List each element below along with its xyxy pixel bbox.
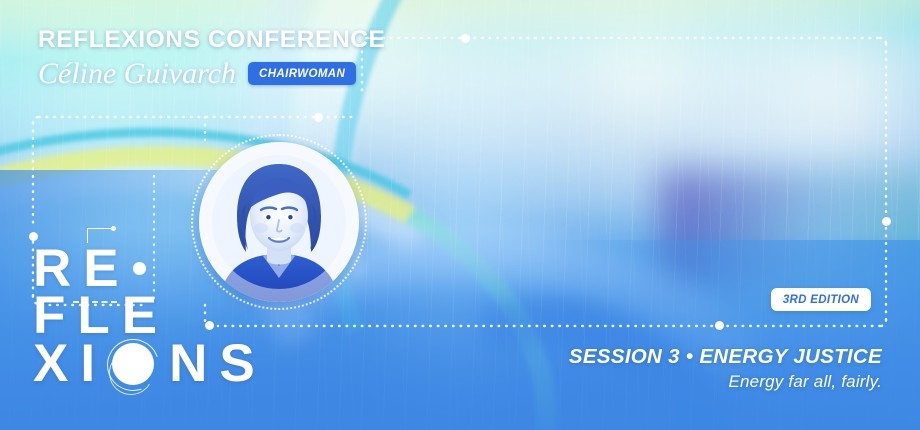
speaker-name: Céline Guivarch [38, 58, 236, 90]
frame-node-header-bottom [314, 113, 323, 122]
logo-orbit-circle-icon [107, 339, 159, 391]
frame-node-top [461, 34, 470, 43]
orbit-disc [112, 343, 154, 385]
frame-node-baseline-center [715, 321, 724, 330]
conference-title: REFLEXIONS CONFERENCE [38, 28, 385, 53]
speaker-row: Céline Guivarch CHAIRWOMAN [38, 58, 385, 90]
reflexions-logo: R E FLE XI NS [33, 245, 267, 391]
session-title: SESSION 3 • ENERGY JUSTICE [569, 346, 882, 368]
conference-banner: REFLEXIONS CONFERENCE Céline Guivarch CH… [0, 0, 920, 430]
session-block: SESSION 3 • ENERGY JUSTICE Energy far al… [569, 346, 882, 392]
logo-letter-e-decorated: E [83, 245, 130, 294]
header-block: REFLEXIONS CONFERENCE Céline Guivarch CH… [38, 28, 385, 89]
edition-badge: 3RD EDITION [771, 288, 871, 311]
logo-line-3: XI NS [33, 339, 267, 391]
logo-letters-xi: XI [33, 340, 107, 389]
corner-bracket-icon [87, 228, 113, 243]
session-tagline: Energy far all, fairly. [569, 372, 882, 392]
logo-letter-e: E [83, 239, 130, 298]
logo-letters-ns: NS [169, 340, 267, 389]
dashed-underline-icon [73, 301, 117, 303]
logo-dot-glyph [133, 262, 146, 275]
role-badge: CHAIRWOMAN [248, 62, 356, 85]
frame-node-right [882, 217, 891, 226]
